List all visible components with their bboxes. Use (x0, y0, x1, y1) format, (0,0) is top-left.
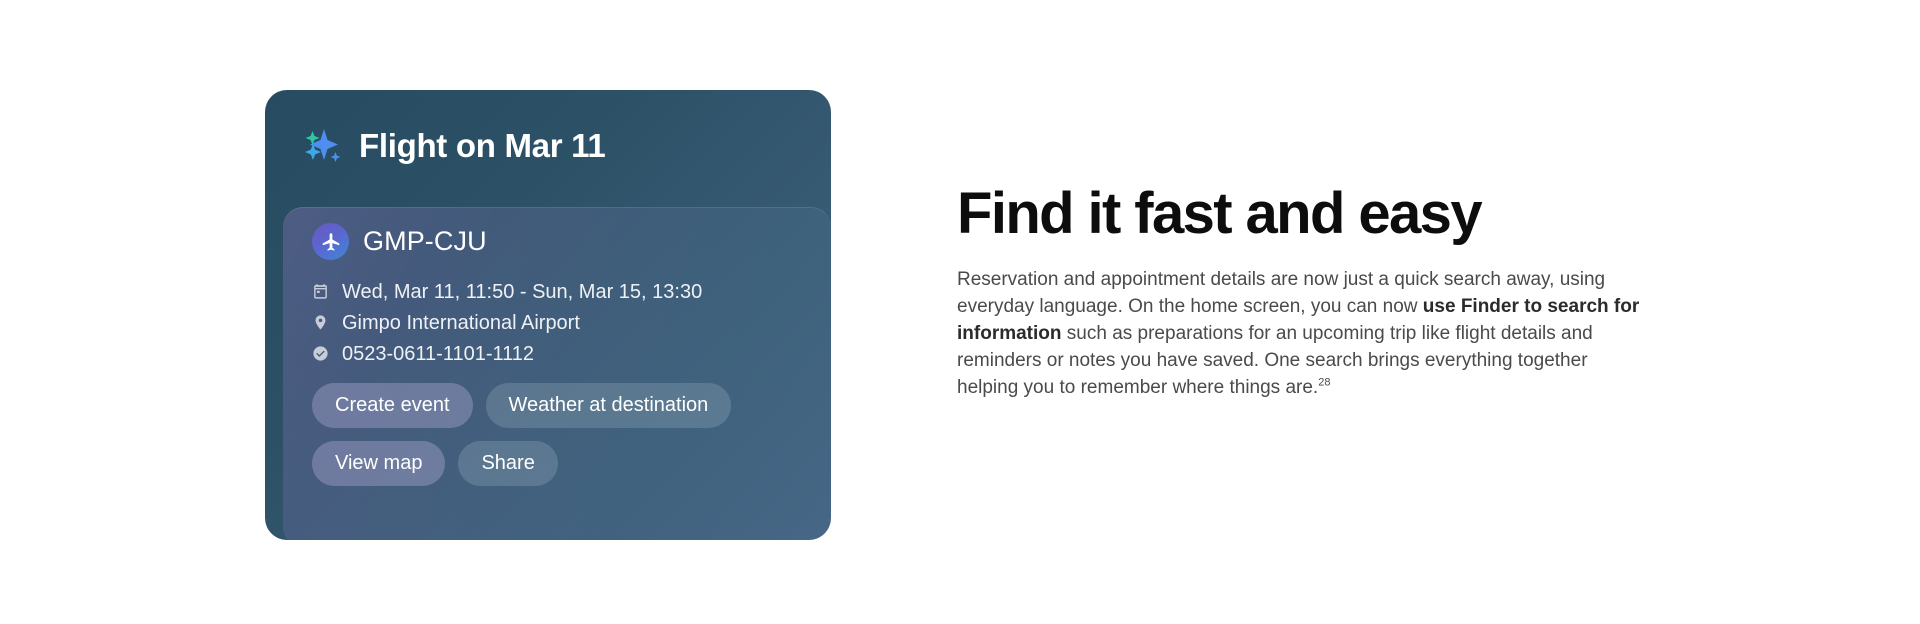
location-pin-icon (312, 314, 329, 331)
airplane-badge (312, 223, 349, 260)
flight-details-panel: GMP-CJU Wed, Mar 11, 11:50 - Sun, Mar 15… (283, 207, 831, 540)
share-button[interactable]: Share (458, 441, 557, 486)
check-circle-icon (312, 345, 329, 362)
airplane-icon (320, 231, 342, 253)
detail-list: Wed, Mar 11, 11:50 - Sun, Mar 15, 13:30 … (312, 276, 702, 369)
detail-row-date: Wed, Mar 11, 11:50 - Sun, Mar 15, 13:30 (312, 276, 702, 307)
detail-text-date: Wed, Mar 11, 11:50 - Sun, Mar 15, 13:30 (342, 282, 702, 302)
card-header: Flight on Mar 11 (297, 122, 605, 168)
create-event-button[interactable]: Create event (312, 383, 473, 428)
calendar-icon (312, 283, 329, 300)
copy-body-footnote: 28 (1318, 377, 1330, 389)
detail-text-reference: 0523-0611-1101-1112 (342, 344, 534, 364)
detail-text-location: Gimpo International Airport (342, 313, 580, 333)
detail-row-reference: 0523-0611-1101-1112 (312, 338, 702, 369)
card-actions: Create event Weather at destination View… (312, 383, 831, 499)
route-row: GMP-CJU (312, 223, 487, 260)
card-action-row-1: Create event Weather at destination (312, 383, 831, 428)
flight-card: Flight on Mar 11 GMP-CJU Wed, Mar 11, 11… (265, 90, 831, 540)
route-label: GMP-CJU (363, 228, 487, 255)
copy-body: Reservation and appointment details are … (957, 267, 1647, 402)
detail-row-location: Gimpo International Airport (312, 307, 702, 338)
card-title: Flight on Mar 11 (359, 129, 605, 162)
copy-heading: Find it fast and easy (957, 185, 1657, 243)
view-map-button[interactable]: View map (312, 441, 445, 486)
copy-block: Find it fast and easy Reservation and ap… (957, 185, 1657, 402)
card-action-row-2: View map Share (312, 441, 831, 486)
sparkle-icon (297, 122, 343, 168)
weather-at-destination-button[interactable]: Weather at destination (486, 383, 732, 428)
